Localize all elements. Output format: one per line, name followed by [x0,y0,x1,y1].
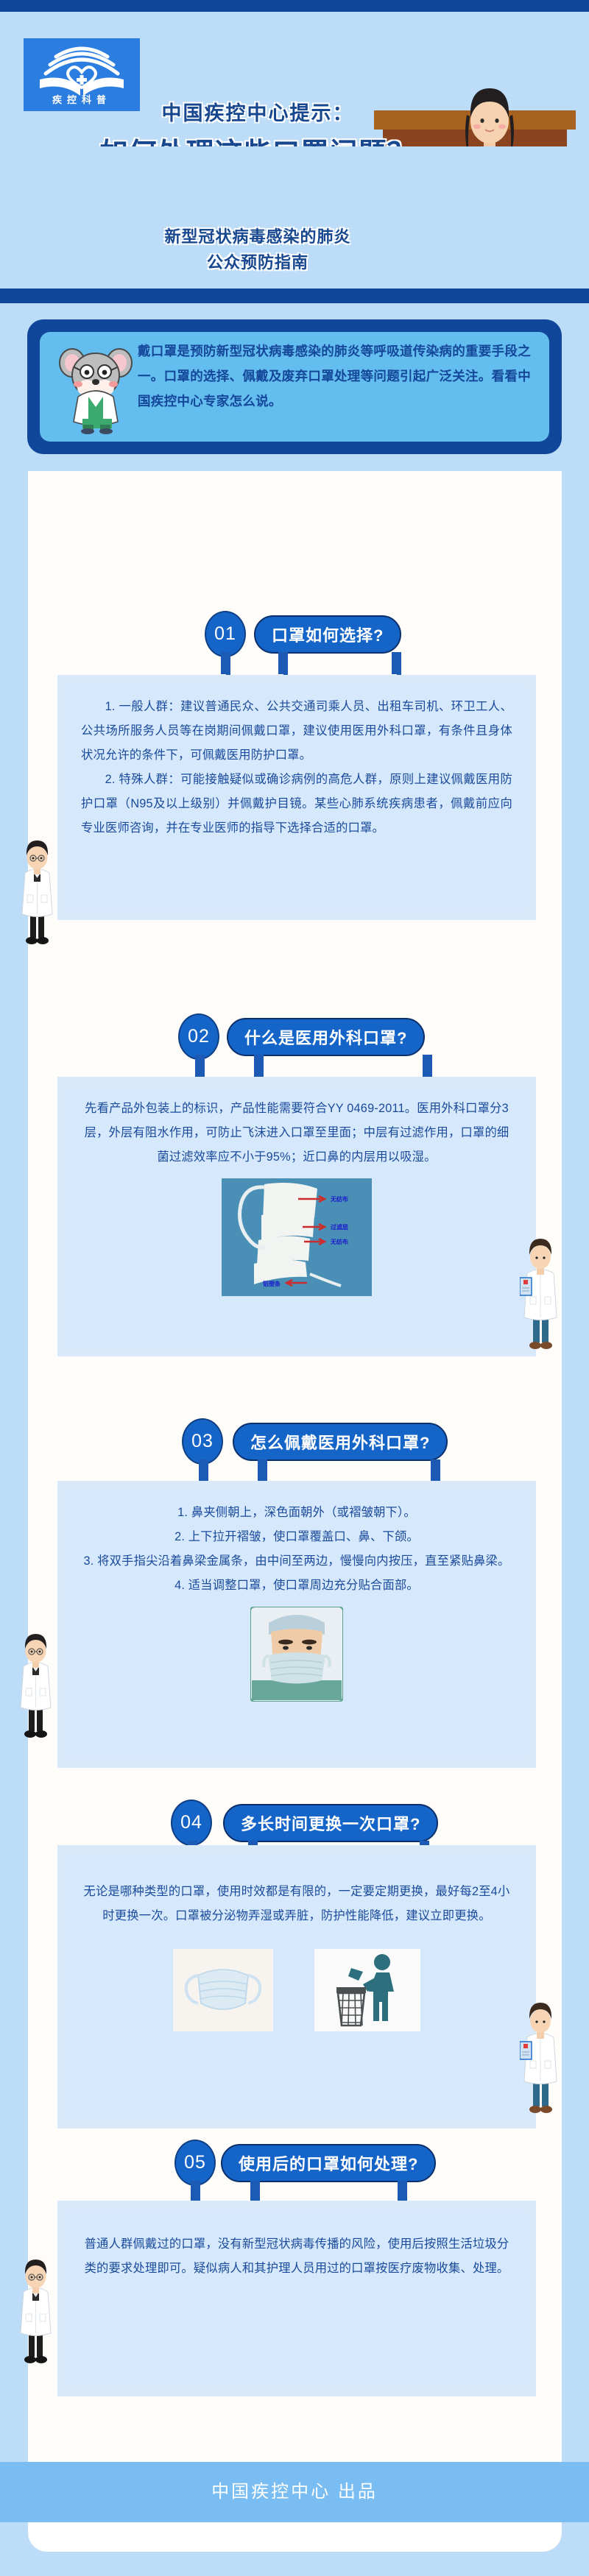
footer-bar: 中国疾控中心 出品 [0,2462,589,2522]
hero-title-line2: 如何处理这些口罩问题？ [0,130,515,146]
section-04-body: 无论是哪种类型的口罩，使用时效都是有限的，一定要定期更换，最好每2至4小时更换一… [65,1855,529,1937]
section-05-panel: 普通人群佩戴过的口罩，没有新型冠状病毒传播的风险，使用后按照生活垃圾分类的要求处… [57,2201,536,2396]
mask-label-1: 无纺布 [330,1195,348,1203]
hero-title-line1: 中国疾控中心提示： [0,97,515,126]
section-04-title-pill: 多长时间更换一次口罩? [223,1804,438,1842]
hero-banner: 疾控科普 中国疾控中心提示： 如何处理这些口罩问题？ [0,12,589,146]
section-01-number: 01 [205,611,246,657]
section-04-title: 多长时间更换一次口罩? [241,1811,420,1835]
section-01-panel-inner: 1. 一般人群：建议普通民众、公共交通司乘人员、出租车司机、环卫工人、公共场所服… [65,684,529,910]
section-03-para-1: 1. 鼻夹侧朝上，深色面朝外（或褶皱朝下）。 [81,1501,512,1525]
mini-doctor-icon-3 [16,1632,54,1741]
section-05-title: 使用后的口罩如何处理? [239,2151,418,2175]
section-03-title-pill: 怎么佩戴医用外科口罩? [233,1423,448,1461]
footer-text: 中国疾控中心 出品 [0,2462,589,2522]
section-01-title-pill: 口罩如何选择? [254,615,401,654]
mask-label-2: 过滤层 [331,1223,348,1231]
section-02-stem-mid [254,1055,264,1077]
section-05-para-1: 普通人群佩戴过的口罩，没有新型冠状病毒传播的风险，使用后按照生活垃圾分类的要求处… [81,2232,512,2281]
section-01-stem-right [392,652,401,674]
section-02-stem-right [423,1055,432,1077]
mini-doctor-icon-4 [520,2000,561,2118]
section-divider-bar [0,289,589,303]
intro-text: 戴口罩是预防新型冠状病毒感染的肺炎等呼吸道传染病的重要手段之一。口罩的选择、佩戴… [138,339,541,414]
mask-layers-photo: 无纺布 过滤层 无纺布 铝塑条 [222,1178,372,1296]
section-01-body: 1. 一般人群：建议普通民众、公共交通司乘人员、出租车司机、环卫工人、公共场所服… [65,684,529,849]
section-03-stem-mid [258,1459,267,1482]
section-03-title: 怎么佩戴医用外科口罩? [250,1430,430,1454]
section-04-para-1: 无论是哪种类型的口罩，使用时效都是有限的，一定要定期更换，最好每2至4小时更换一… [81,1880,512,1928]
section-04-number: 04 [171,1800,212,1846]
section-01-stem-mid [278,652,288,674]
section-02-stem-left [195,1055,205,1077]
hero-titles: 中国疾控中心提示： 如何处理这些口罩问题？ [0,97,515,146]
hero-spacer [0,146,589,160]
mini-doctor-icon-1 [18,839,56,948]
section-02-number-badge: 02 [178,1013,219,1060]
section-05-body: 普通人群佩戴过的口罩，没有新型冠状病毒传播的风险，使用后按照生活垃圾分类的要求处… [65,2210,529,2290]
section-03-panel: 1. 鼻夹侧朝上，深色面朝外（或褶皱朝下）。 2. 上下拉开褶皱，使口罩覆盖口、… [57,1481,536,1768]
section-05-stem-right [398,2181,407,2203]
section-05-stem-mid [250,2181,260,2203]
section-03-panel-inner: 1. 鼻夹侧朝上，深色面朝外（或褶皱朝下）。 2. 上下拉开褶皱，使口罩覆盖口、… [65,1490,529,1758]
section-03-para-2: 2. 上下拉开褶皱，使口罩覆盖口、鼻、下颌。 [81,1525,512,1549]
footer-white-cap [28,2522,562,2552]
section-01-number-badge: 01 [205,611,246,657]
section-04-panel-inner: 无论是哪种类型的口罩，使用时效都是有限的，一定要定期更换，最好每2至4小时更换一… [65,1855,529,2119]
section-03-number: 03 [182,1418,223,1465]
section-05-stem-left [191,2181,200,2203]
hero-title-line4: 公众预防指南 [0,250,515,273]
section-01-stem-left [221,652,230,674]
section-02-para-1: 先看产品外包装上的标识，产品性能需要符合YY 0469-2011。医用外科口罩分… [81,1097,512,1170]
section-03-para-4: 4. 适当调整口罩，使口罩周边充分贴合面部。 [81,1574,512,1598]
mask-label-3: 无纺布 [330,1238,348,1245]
section-02-body: 先看产品外包装上的标识，产品性能需要符合YY 0469-2011。医用外科口罩分… [65,1086,529,1178]
section-03-stem-left [199,1459,208,1482]
section-02-panel-inner: 先看产品外包装上的标识，产品性能需要符合YY 0469-2011。医用外科口罩分… [65,1086,529,1347]
section-03-para-3: 3. 将双手指尖沿着鼻梁金属条，由中间至两边，慢慢向内按压，直至紧贴鼻梁。 [81,1549,512,1574]
mini-doctor-icon-2 [520,1236,561,1354]
mask-icon [173,1949,273,2031]
hero-subtitles: 新型冠状病毒感染的肺炎 公众预防指南 [0,217,515,273]
intro-card: 戴口罩是预防新型冠状病毒感染的肺炎等呼吸道传染病的重要手段之一。口罩的选择、佩戴… [27,319,562,454]
mask-label-4: 铝塑条 [263,1280,281,1287]
section-02-panel: 先看产品外包装上的标识，产品性能需要符合YY 0469-2011。医用外科口罩分… [57,1077,536,1356]
section-01-title: 口罩如何选择? [272,623,384,646]
section-01-panel: 1. 一般人群：建议普通民众、公共交通司乘人员、出租车司机、环卫工人、公共场所服… [57,675,536,920]
mouse-mascot-icon [56,342,137,434]
hero-title-line3: 新型冠状病毒感染的肺炎 [0,224,515,247]
dispose-in-bin-icon [314,1949,420,2031]
section-05-number: 05 [174,2140,216,2186]
section-02-title: 什么是医用外科口罩? [244,1025,407,1049]
section-04-figures [65,1949,529,2031]
section-01-para-1: 1. 一般人群：建议普通民众、公共交通司乘人员、出租车司机、环卫工人、公共场所服… [81,695,512,768]
section-04-panel: 无论是哪种类型的口罩，使用时效都是有限的，一定要定期更换，最好每2至4小时更换一… [57,1845,536,2129]
person-wearing-mask-photo [250,1607,343,1702]
section-05-title-pill: 使用后的口罩如何处理? [221,2144,436,2182]
section-02-number: 02 [178,1013,219,1060]
mini-doctor-icon-5 [16,2258,54,2367]
section-04-number-badge: 04 [171,1800,212,1846]
intro-region: 戴口罩是预防新型冠状病毒感染的肺炎等呼吸道传染病的重要手段之一。口罩的选择、佩戴… [0,303,589,471]
section-03-body: 1. 鼻夹侧朝上，深色面朝外（或褶皱朝下）。 2. 上下拉开褶皱，使口罩覆盖口、… [65,1490,529,1607]
section-02-title-pill: 什么是医用外科口罩? [227,1018,425,1056]
section-01-para-2: 2. 特殊人群：可能接触疑似或确诊病例的高危人群，原则上建议佩戴医用防护口罩（N… [81,768,512,841]
section-03-number-badge: 03 [182,1418,223,1465]
intro-card-inner: 戴口罩是预防新型冠状病毒感染的肺炎等呼吸道传染病的重要手段之一。口罩的选择、佩戴… [40,332,549,442]
section-05-number-badge: 05 [174,2140,216,2186]
top-accent-bar [0,0,589,12]
section-05-panel-inner: 普通人群佩戴过的口罩，没有新型冠状病毒传播的风险，使用后按照生活垃圾分类的要求处… [65,2210,529,2387]
section-03-stem-right [431,1459,440,1482]
